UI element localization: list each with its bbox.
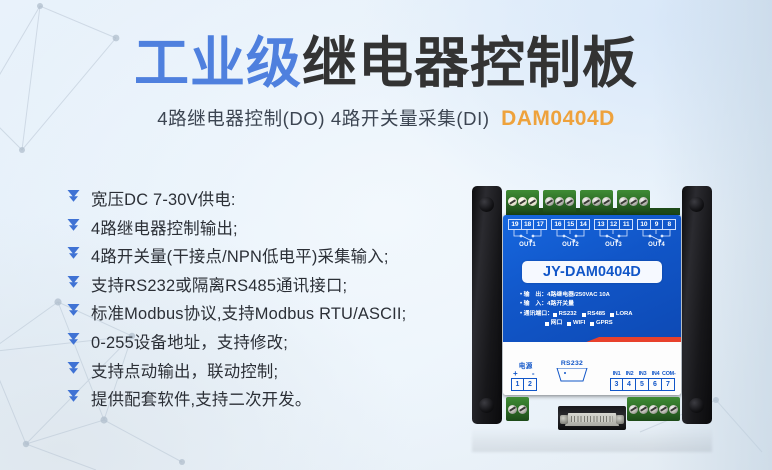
title-highlight: 工业级 (134, 32, 302, 94)
serial-port-label: RS232 (555, 360, 589, 367)
bullet-dot-icon: • (520, 310, 522, 319)
input-label: IN3 (636, 371, 649, 377)
comm-port-option: RS485 (582, 310, 606, 319)
list-item: 标准Modbus协议,支持Modbus RTU/ASCII; (67, 300, 467, 329)
input-label: IN2 (623, 371, 636, 377)
list-item: 支持点动输出，联动控制; (67, 358, 467, 387)
screw-icon (629, 197, 638, 206)
mounting-hole-icon (689, 398, 704, 413)
terminal-number: 12 (608, 219, 621, 230)
device-reflection (472, 424, 712, 452)
comm-label: 通讯端口： (524, 310, 553, 319)
terminal-cell: 6 (649, 378, 662, 391)
title-rest: 继电器控制板 (302, 32, 638, 94)
label-bottom-face: 电源 + - 1 2 RS232 IN1 (503, 342, 681, 395)
input-labels: IN1 IN2 IN3 IN4 COM- (610, 371, 675, 377)
relay-symbol-icon (594, 230, 633, 243)
output-terminal-blocks (506, 190, 680, 213)
comm-port-label: RS232 (559, 310, 577, 319)
comm-port-option: RS232 (553, 310, 577, 319)
terminal-cell: 4 (623, 378, 636, 391)
checkbox-icon (590, 322, 594, 326)
terminal-number: 16 (551, 219, 565, 230)
screw-icon (508, 405, 517, 414)
checkbox-icon (553, 313, 557, 317)
comm-port-option: GPRS (590, 319, 612, 328)
terminal-number: 10 (637, 219, 651, 230)
list-item: 提供配套软件,支持二次开发。 (67, 386, 467, 415)
product-banner: 工业级继电器控制板 4路继电器控制(DO) 4路开关量采集(DI) DAM040… (0, 0, 772, 470)
list-item-label: 0-255设备地址，支持修改; (91, 329, 288, 353)
relay-group: 16 15 14 OUT2 (551, 219, 590, 248)
spec-value: 4路开关量 (547, 300, 574, 309)
relay-output-diagrams: 19 18 17 OUT1 16 15 14 (508, 219, 676, 248)
relay-group: 19 18 17 OUT1 (508, 219, 547, 248)
screw-icon (582, 197, 591, 206)
terminal-block-inputs (627, 397, 680, 421)
terminal-number: 19 (508, 219, 522, 230)
relay-symbol-icon (551, 230, 590, 243)
comm-port-label: GPRS (596, 319, 613, 328)
spec-row-comm-2: 网口 WIFI GPRS (545, 319, 670, 328)
terminal-number: 8 (663, 219, 676, 230)
screw-icon (592, 197, 601, 206)
screw-icon (649, 405, 658, 414)
double-chevron-down-icon (67, 246, 91, 261)
spec-key: 输 入： (524, 300, 548, 309)
db9-screw-icon (616, 415, 624, 424)
power-polarity: + - (513, 370, 541, 377)
terminal-block (506, 190, 539, 213)
relay-symbol-icon (637, 230, 676, 243)
terminal-cell: 3 (610, 378, 623, 391)
device-label: 19 18 17 OUT1 16 15 14 (503, 215, 681, 395)
spec-row: • 输 入： 4路开关量 (520, 300, 670, 309)
subtitle-text: 4路继电器控制(DO) 4路开关量采集(DI) (157, 108, 489, 129)
terminal-block (580, 190, 613, 213)
comm-port-option: WIFI (567, 319, 585, 328)
list-item: 宽压DC 7-30V供电: (67, 186, 467, 215)
terminal-number: 11 (620, 219, 633, 230)
mounting-hole-icon (479, 197, 494, 212)
serial-port-section: RS232 (555, 360, 589, 382)
comm-port-options-2: 网口 WIFI GPRS (545, 319, 618, 328)
terminal-numbers: 16 15 14 (551, 219, 590, 230)
terminal-block (543, 190, 576, 213)
double-chevron-down-icon (67, 389, 91, 404)
terminal-block (617, 190, 650, 213)
terminal-block-power (506, 397, 529, 421)
terminal-cell: 1 (511, 378, 524, 391)
screw-icon (528, 197, 537, 206)
db9-screw-icon (560, 415, 568, 424)
terminal-number: 9 (651, 219, 664, 230)
relay-symbol-icon (508, 230, 547, 243)
screw-icon (639, 197, 648, 206)
screw-icon (669, 405, 678, 414)
input-section: IN1 IN2 IN3 IN4 COM- 3 4 5 6 7 (610, 371, 675, 391)
list-item-label: 提供配套软件,支持二次开发。 (91, 386, 311, 410)
feature-list: 宽压DC 7-30V供电: 4路继电器控制输出; 4路开关量(干接点/NPN低电… (67, 186, 467, 415)
double-chevron-down-icon (67, 189, 91, 204)
checkbox-icon (567, 322, 571, 326)
screw-icon (508, 197, 517, 206)
comm-port-label: WIFI (573, 319, 585, 328)
screw-icon (518, 405, 527, 414)
db9-connector-icon (555, 368, 589, 382)
screw-icon (639, 405, 648, 414)
screw-icon (518, 197, 527, 206)
double-chevron-down-icon (67, 275, 91, 290)
mounting-hole-icon (479, 398, 494, 413)
double-chevron-down-icon (67, 361, 91, 376)
input-label: COM- (662, 371, 675, 377)
list-item-label: 4路开关量(干接点/NPN低电平)采集输入; (91, 243, 389, 267)
banner-header: 工业级继电器控制板 4路继电器控制(DO) 4路开关量采集(DI) DAM040… (0, 34, 772, 131)
spec-key: 输 出： (524, 291, 548, 300)
db9-pins (571, 416, 613, 422)
bullet-dot-icon: • (520, 291, 522, 300)
input-label: IN1 (610, 371, 623, 377)
list-item-label: 标准Modbus协议,支持Modbus RTU/ASCII; (91, 300, 406, 324)
relay-group: 13 12 11 OUT3 (594, 219, 633, 248)
checkbox-icon (582, 313, 586, 317)
screw-icon (619, 197, 628, 206)
mounting-rail-right (682, 186, 712, 424)
model-number: DAM0404D (501, 107, 615, 130)
relay-group: 10 9 8 OUT4 (637, 219, 676, 248)
device-model-badge: JY-DAM0404D (522, 261, 662, 283)
screw-icon (602, 197, 611, 206)
product-image: 19 18 17 OUT1 16 15 14 (472, 186, 712, 424)
double-chevron-down-icon (67, 332, 91, 347)
bullet-dot-icon: • (520, 300, 522, 309)
spec-row-comm: • 通讯端口： RS232 RS485 LORA (520, 310, 670, 319)
list-item-label: 宽压DC 7-30V供电: (91, 186, 236, 210)
double-chevron-down-icon (67, 303, 91, 318)
banner-subtitle: 4路继电器控制(DO) 4路开关量采集(DI) DAM0404D (0, 105, 772, 131)
input-terminals: 3 4 5 6 7 (610, 378, 675, 391)
comm-port-label: LORA (616, 310, 633, 319)
terminal-number: 17 (534, 219, 547, 230)
list-item: 4路继电器控制输出; (67, 215, 467, 244)
list-item: 支持RS232或隔离RS485通讯接口; (67, 272, 467, 301)
comm-port-label: RS485 (587, 310, 605, 319)
mounting-hole-icon (689, 197, 704, 212)
terminal-numbers: 10 9 8 (637, 219, 676, 230)
list-item: 0-255设备地址，支持修改; (67, 329, 467, 358)
checkbox-icon (545, 322, 549, 326)
screw-icon (659, 405, 668, 414)
terminal-number: 18 (522, 219, 535, 230)
terminal-numbers: 13 12 11 (594, 219, 633, 230)
list-item-label: 支持点动输出，联动控制; (91, 358, 278, 382)
power-section: 电源 + - 1 2 (511, 360, 541, 391)
screw-icon (545, 197, 554, 206)
device-spec-list: • 输 出： 4路继电器/250VAC 10A • 输 入： 4路开关量 • 通… (520, 291, 670, 329)
input-label: IN4 (649, 371, 662, 377)
comm-port-option: LORA (610, 310, 632, 319)
comm-port-label: 网口 (551, 319, 563, 328)
comm-port-option: 网口 (545, 319, 562, 328)
device-model-text: JY-DAM0404D (543, 264, 641, 280)
terminal-cell: 5 (636, 378, 649, 391)
page-title: 工业级继电器控制板 (0, 34, 772, 92)
list-item-label: 4路继电器控制输出; (91, 215, 238, 239)
comm-port-options: RS232 RS485 LORA (553, 310, 638, 319)
screw-icon (565, 197, 574, 206)
double-chevron-down-icon (67, 218, 91, 233)
terminal-number: 13 (594, 219, 608, 230)
spec-row: • 输 出： 4路继电器/250VAC 10A (520, 291, 670, 300)
list-item: 4路开关量(干接点/NPN低电平)采集输入; (67, 243, 467, 272)
power-terminals: 1 2 (511, 378, 541, 391)
terminal-cell: 7 (662, 378, 675, 391)
screw-icon (629, 405, 638, 414)
screw-icon (555, 197, 564, 206)
mounting-rail-left (472, 186, 502, 424)
terminal-cell: 2 (524, 378, 537, 391)
spec-value: 4路继电器/250VAC 10A (547, 291, 610, 300)
terminal-number: 15 (565, 219, 578, 230)
list-item-label: 支持RS232或隔离RS485通讯接口; (91, 272, 347, 296)
terminal-numbers: 19 18 17 (508, 219, 547, 230)
terminal-number: 14 (577, 219, 590, 230)
checkbox-icon (610, 313, 614, 317)
